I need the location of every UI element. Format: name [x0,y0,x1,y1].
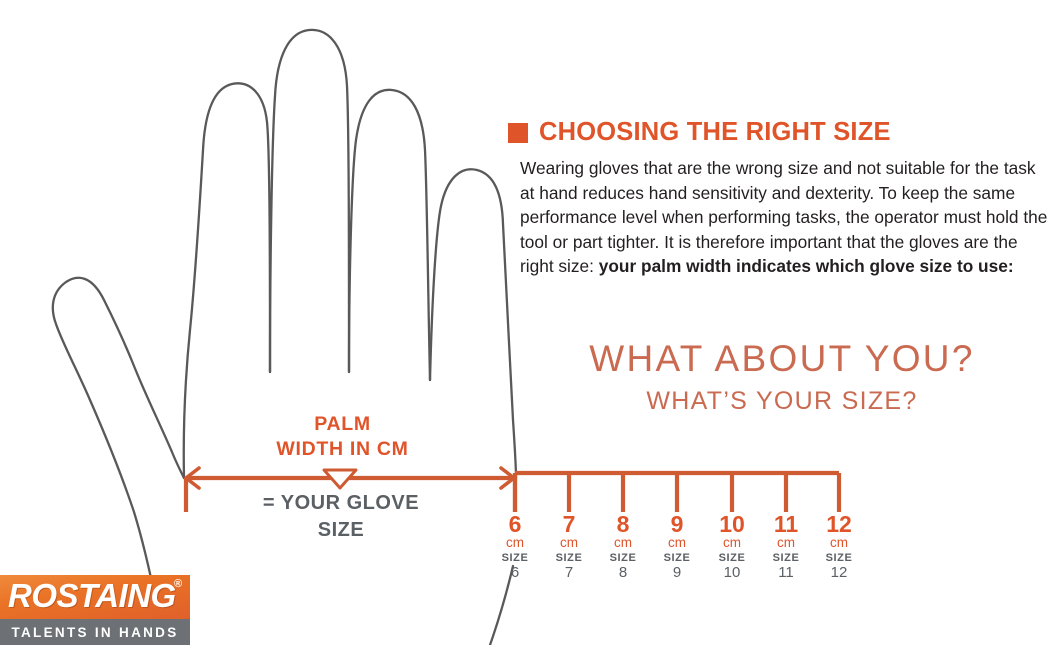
slogan-line-2: WHAT’S YOUR SIZE? [508,384,1056,418]
tick-size-value: 12 [809,565,869,581]
registered-trademark-icon: ® [174,578,182,590]
tick-label-7: 7 cm SIZE 7 [539,514,599,581]
tick-label-12: 12 cm SIZE 12 [809,514,869,581]
tick-cm-unit: cm [702,535,762,551]
body-paragraph: Wearing gloves that are the wrong size a… [508,156,1053,279]
size-guide-page: 6 cm SIZE 6 7 cm SIZE 7 8 cm SIZE 8 9 cm… [0,0,1063,645]
palm-caption-line2: WIDTH IN CM [200,437,485,462]
tick-cm-value: 9 [647,514,707,535]
section-heading: CHOOSING THE RIGHT SIZE [508,118,1053,147]
thumb-path [53,278,184,602]
palm-width-caption: PALM WIDTH IN CM [200,412,485,462]
tick-label-8: 8 cm SIZE 8 [593,514,653,581]
slogan-line-1: WHAT ABOUT YOU? [508,336,1056,382]
info-panel: CHOOSING THE RIGHT SIZE Wearing gloves t… [508,118,1053,279]
rostaing-logo: ROSTAING ® TALENTS IN HANDS [0,575,190,645]
tick-cm-unit: cm [539,535,599,551]
tick-size-word: SIZE [809,551,869,565]
tick-size-word: SIZE [539,551,599,565]
palm-caption-line1: PALM [200,412,485,437]
finger-ring-edge [349,90,430,380]
slogan-block: WHAT ABOUT YOU? WHAT’S YOUR SIZE? [508,336,1056,418]
tick-label-11: 11 cm SIZE 11 [756,514,816,581]
body-paragraph-bold: your palm width indicates which glove si… [599,256,1014,276]
tick-size-value: 6 [485,565,545,581]
tick-size-word: SIZE [593,551,653,565]
tick-size-value: 7 [539,565,599,581]
logo-gray-band: TALENTS IN HANDS [0,619,190,645]
tick-size-word: SIZE [702,551,762,565]
section-heading-text: CHOOSING THE RIGHT SIZE [539,118,891,147]
logo-orange-band: ROSTAING ® [0,575,190,619]
finger-middle-left-edge [270,30,349,372]
hand-outline-illustration [0,0,560,645]
tick-cm-value: 10 [702,514,762,535]
logo-wordmark: ROSTAING [8,577,176,615]
tick-size-value: 10 [702,565,762,581]
glove-caption-line1: = YOUR GLOVE [195,490,487,517]
tick-cm-value: 8 [593,514,653,535]
logo-tagline: TALENTS IN HANDS [11,625,178,640]
glove-size-caption: = YOUR GLOVE SIZE [195,490,487,544]
tick-label-6: 6 cm SIZE 6 [485,514,545,581]
tick-cm-unit: cm [593,535,653,551]
tick-size-value: 8 [593,565,653,581]
tick-label-9: 9 cm SIZE 9 [647,514,707,581]
tick-cm-value: 6 [485,514,545,535]
glove-caption-line2: SIZE [195,517,487,544]
tick-cm-unit: cm [485,535,545,551]
tick-size-word: SIZE [647,551,707,565]
tick-size-word: SIZE [485,551,545,565]
tick-cm-value: 7 [539,514,599,535]
tick-size-value: 9 [647,565,707,581]
tick-cm-value: 11 [756,514,816,535]
tick-label-10: 10 cm SIZE 10 [702,514,762,581]
tick-cm-unit: cm [756,535,816,551]
tick-cm-unit: cm [647,535,707,551]
tick-size-word: SIZE [756,551,816,565]
tick-cm-value: 12 [809,514,869,535]
tick-size-value: 11 [756,565,816,581]
tick-cm-unit: cm [809,535,869,551]
square-bullet-icon [508,123,528,143]
